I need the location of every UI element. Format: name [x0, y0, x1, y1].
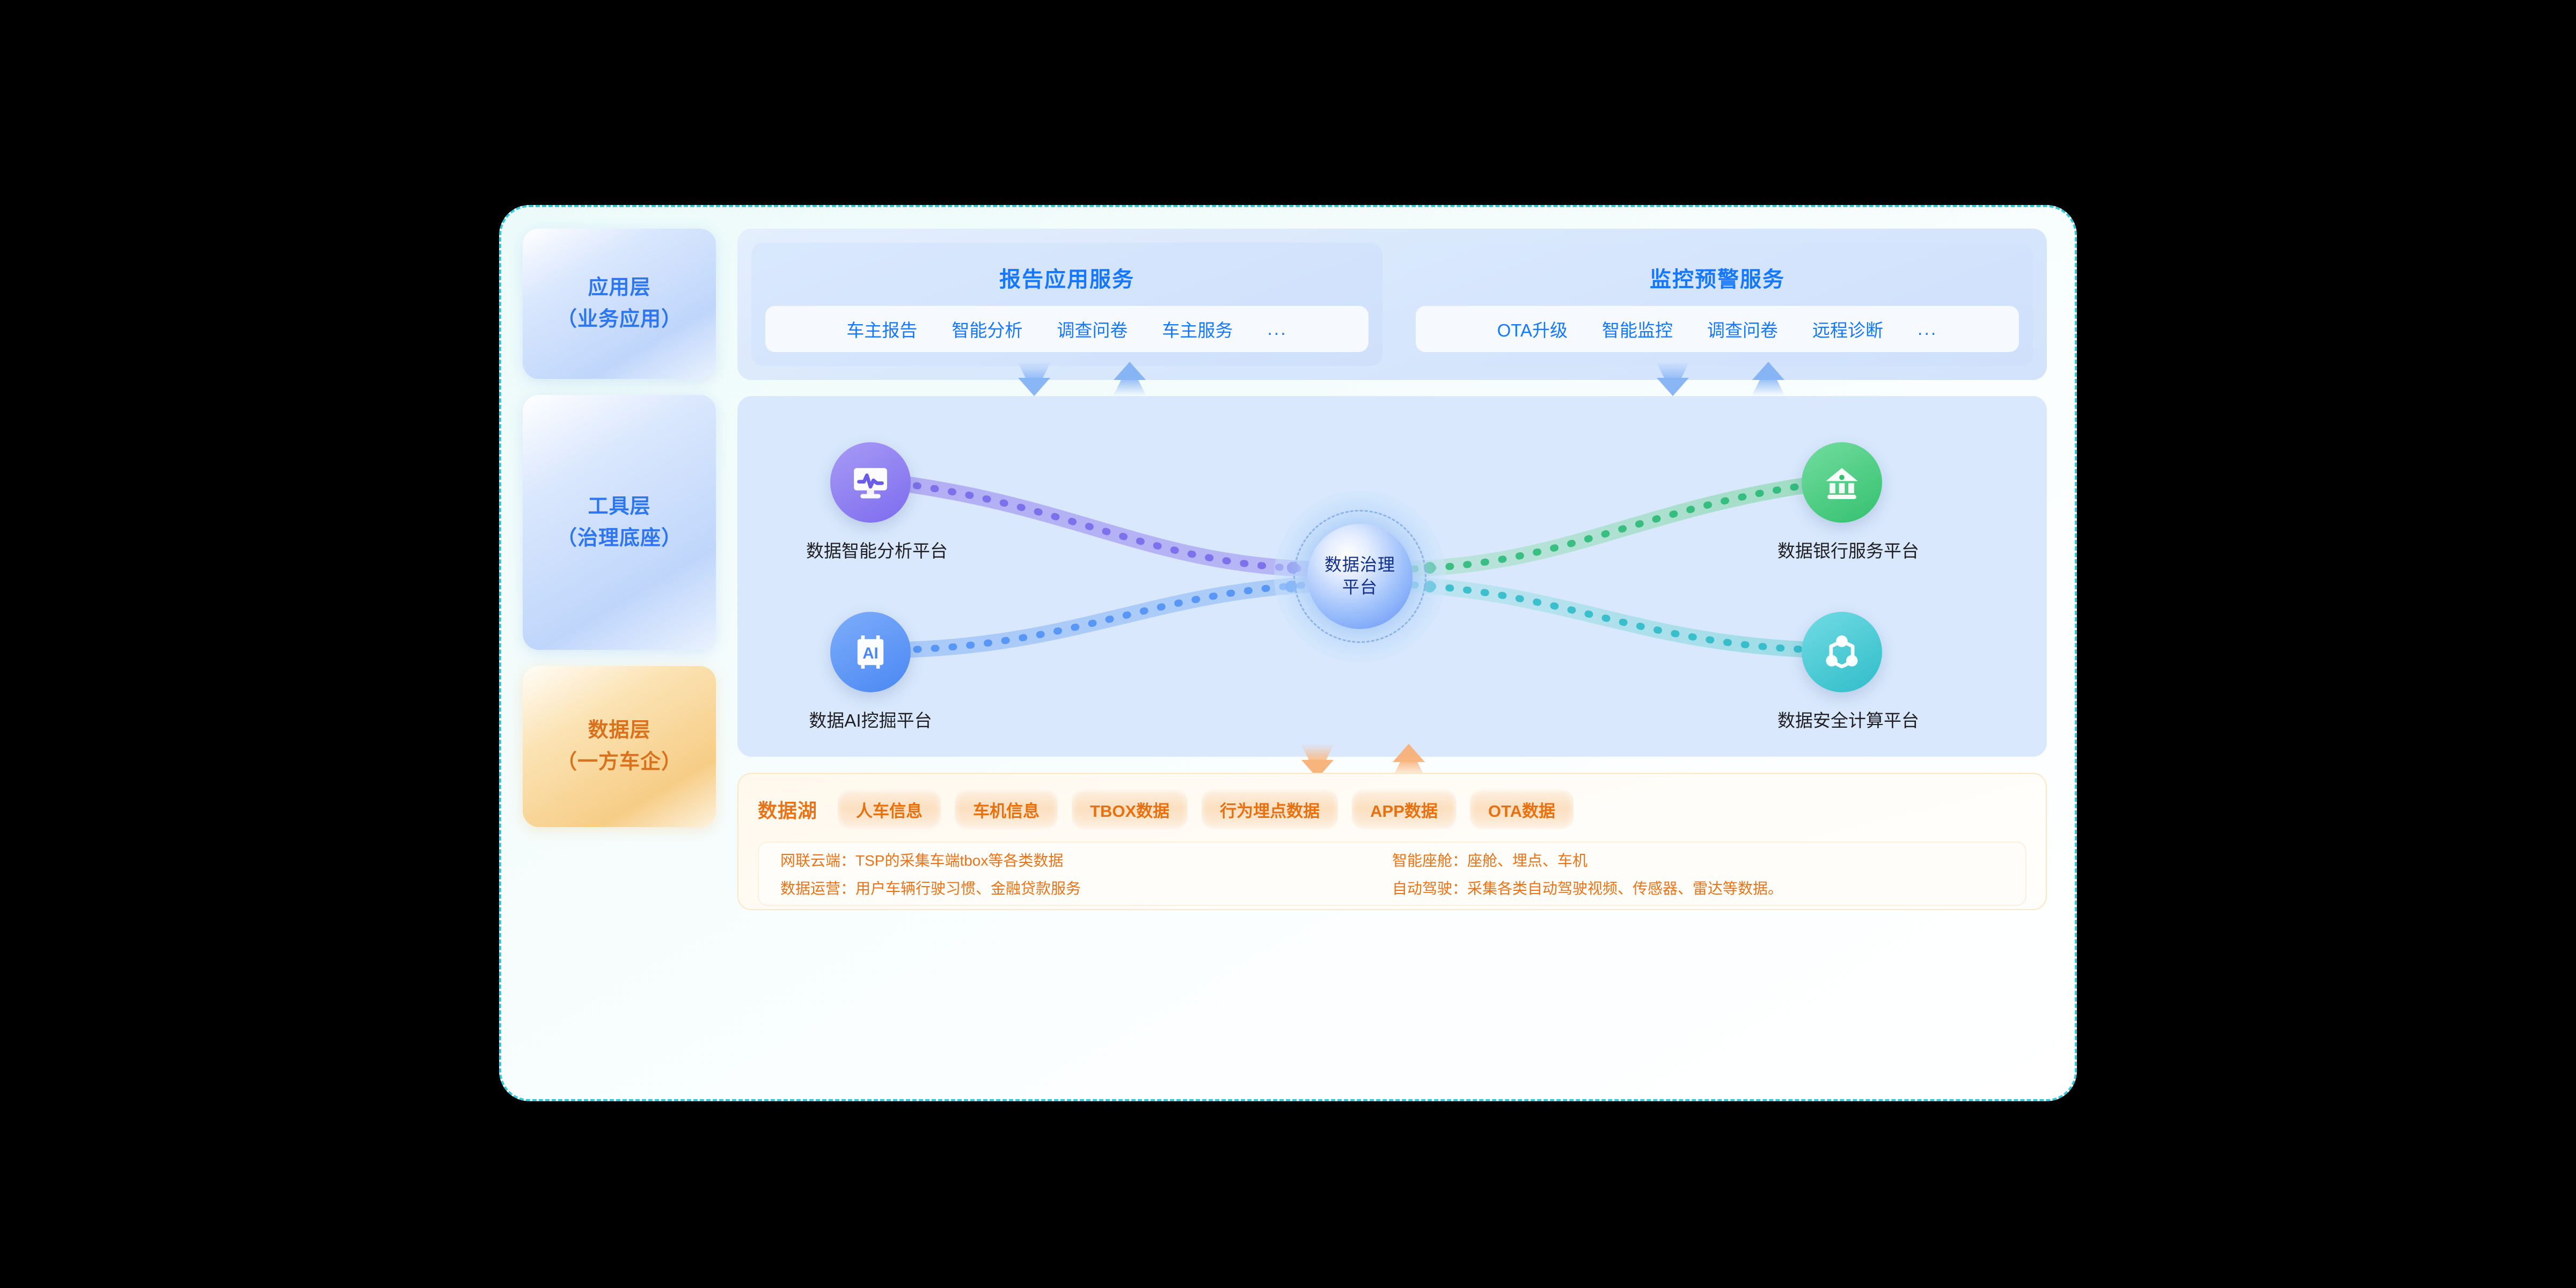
data-source-description: 数据运营：用户车辆行驶习惯、金融贷款服务 — [780, 877, 1392, 898]
data-lake-chip[interactable]: TBOX数据 — [1072, 789, 1188, 829]
application-layer: 报告应用服务 车主报告 智能分析 调查问卷 车主服务 ... 监控预警服务 OT… — [737, 229, 2047, 380]
layer-label-data: 数据层 （一方车企） — [523, 666, 716, 827]
node-label: 数据银行服务平台 — [1777, 537, 1906, 562]
data-layer: 数据湖 人车信息 车机信息 TBOX数据 行为埋点数据 APP数据 OTA数据 … — [737, 773, 2047, 910]
service-panel-monitor-tagbar: OTA升级 智能监控 调查问卷 远程诊断 ... — [1416, 306, 2019, 352]
data-lake-chip[interactable]: 行为埋点数据 — [1202, 789, 1338, 829]
layer-label-application-sub: （业务应用） — [557, 304, 682, 335]
svg-text:AI: AI — [862, 645, 879, 662]
arrow-down-app-to-tool-right — [1656, 362, 1689, 396]
data-source-description: 智能座舱：座舱、埋点、车机 — [1392, 849, 2004, 870]
layer-label-data-sub: （一方车企） — [557, 747, 682, 778]
data-lake-row: 数据湖 人车信息 车机信息 TBOX数据 行为埋点数据 APP数据 OTA数据 — [758, 789, 2026, 830]
layer-label-application-name: 应用层 — [557, 272, 682, 304]
service-panel-monitor[interactable]: 监控预警服务 OTA升级 智能监控 调查问卷 远程诊断 ... — [1402, 243, 2033, 366]
data-lake-chip[interactable]: 车机信息 — [955, 789, 1058, 829]
data-lake-chip[interactable]: OTA数据 — [1470, 789, 1574, 829]
layer-label-application: 应用层 （业务应用） — [523, 229, 716, 379]
data-source-description: 自动驾驶：采集各类自动驾驶视频、传感器、雷达等数据。 — [1392, 877, 2004, 898]
hub-core-sphere: 数据治理 平台 — [1307, 524, 1413, 629]
service-tag[interactable]: 远程诊断 — [1812, 316, 1883, 342]
node-data-ai-mining[interactable]: AI 数据AI挖掘平台 — [806, 612, 935, 732]
node-data-intelligent-analysis[interactable]: 数据智能分析平台 — [806, 442, 935, 562]
service-panel-report[interactable]: 报告应用服务 车主报告 智能分析 调查问卷 车主服务 ... — [751, 243, 1382, 366]
layer-label-tool: 工具层 （治理底座） — [523, 395, 716, 650]
data-lake-chip[interactable]: APP数据 — [1352, 789, 1456, 829]
layer-label-tool-name: 工具层 — [557, 491, 682, 523]
hub-title-line2: 平台 — [1342, 576, 1378, 599]
service-tag[interactable]: 调查问卷 — [1057, 316, 1128, 342]
tool-layer: 数据智能分析平台 AI 数据AI挖掘平台 — [737, 396, 2047, 757]
arrow-down-app-to-tool-left — [1018, 362, 1051, 396]
bank-building-icon — [1802, 442, 1882, 523]
node-label: 数据安全计算平台 — [1777, 706, 1906, 732]
ai-chip-icon: AI — [830, 612, 911, 692]
data-lake-title: 数据湖 — [758, 795, 817, 823]
arrow-up-tool-to-app-right — [1752, 362, 1785, 396]
data-source-description-box: 网联云端：TSP的采集车端tbox等各类数据 智能座舱：座舱、埋点、车机 数据运… — [758, 841, 2026, 906]
node-data-security-computing[interactable]: 数据安全计算平台 — [1777, 612, 1906, 732]
hub-title-line1: 数据治理 — [1324, 554, 1395, 576]
layer-label-data-name: 数据层 — [557, 715, 682, 747]
data-source-description: 网联云端：TSP的采集车端tbox等各类数据 — [780, 849, 1392, 870]
service-tag[interactable]: OTA升级 — [1497, 316, 1568, 342]
service-tag[interactable]: 调查问卷 — [1707, 316, 1778, 342]
node-label: 数据智能分析平台 — [806, 537, 935, 562]
service-panel-report-tagbar: 车主报告 智能分析 调查问卷 车主服务 ... — [765, 306, 1368, 352]
service-panel-report-title: 报告应用服务 — [999, 262, 1135, 293]
node-data-bank-service[interactable]: 数据银行服务平台 — [1777, 442, 1906, 562]
service-tag[interactable]: 智能分析 — [952, 316, 1022, 342]
service-tag[interactable]: 智能监控 — [1602, 316, 1673, 342]
data-lake-chip[interactable]: 人车信息 — [838, 789, 941, 829]
service-tag[interactable]: 车主服务 — [1162, 316, 1233, 342]
service-tag-more[interactable]: ... — [1267, 319, 1287, 340]
node-label: 数据AI挖掘平台 — [806, 706, 935, 732]
secure-nodes-icon — [1802, 612, 1882, 692]
layer-label-tool-sub: （治理底座） — [557, 523, 682, 554]
service-tag-more[interactable]: ... — [1918, 319, 1937, 340]
diagram-canvas: 应用层 （业务应用） 工具层 （治理底座） 数据层 （一方车企） 报告应用服务 … — [499, 205, 2077, 1101]
monitor-pulse-icon — [830, 442, 911, 523]
arrow-up-tool-to-app-left — [1113, 362, 1146, 396]
service-panel-monitor-title: 监控预警服务 — [1650, 262, 1785, 293]
central-hub-data-governance-platform[interactable]: 数据治理 平台 — [1274, 491, 1446, 662]
service-tag[interactable]: 车主报告 — [846, 316, 917, 342]
